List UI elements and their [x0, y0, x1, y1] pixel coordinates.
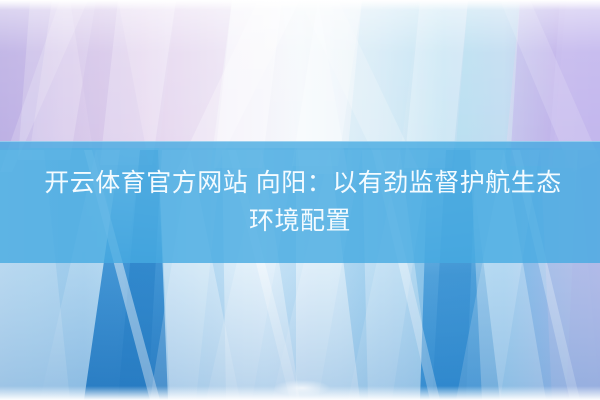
banner-title-line-2: 环境配置 [249, 202, 351, 240]
title-band: 开云体育官方网站 向阳：以有劲监督护航生态 环境配置 [0, 141, 600, 263]
banner-title-line-1: 开云体育官方网站 向阳：以有劲监督护航生态 [38, 164, 561, 202]
decorative-banner: 开云体育官方网站 向阳：以有劲监督护航生态 环境配置 [0, 0, 600, 400]
